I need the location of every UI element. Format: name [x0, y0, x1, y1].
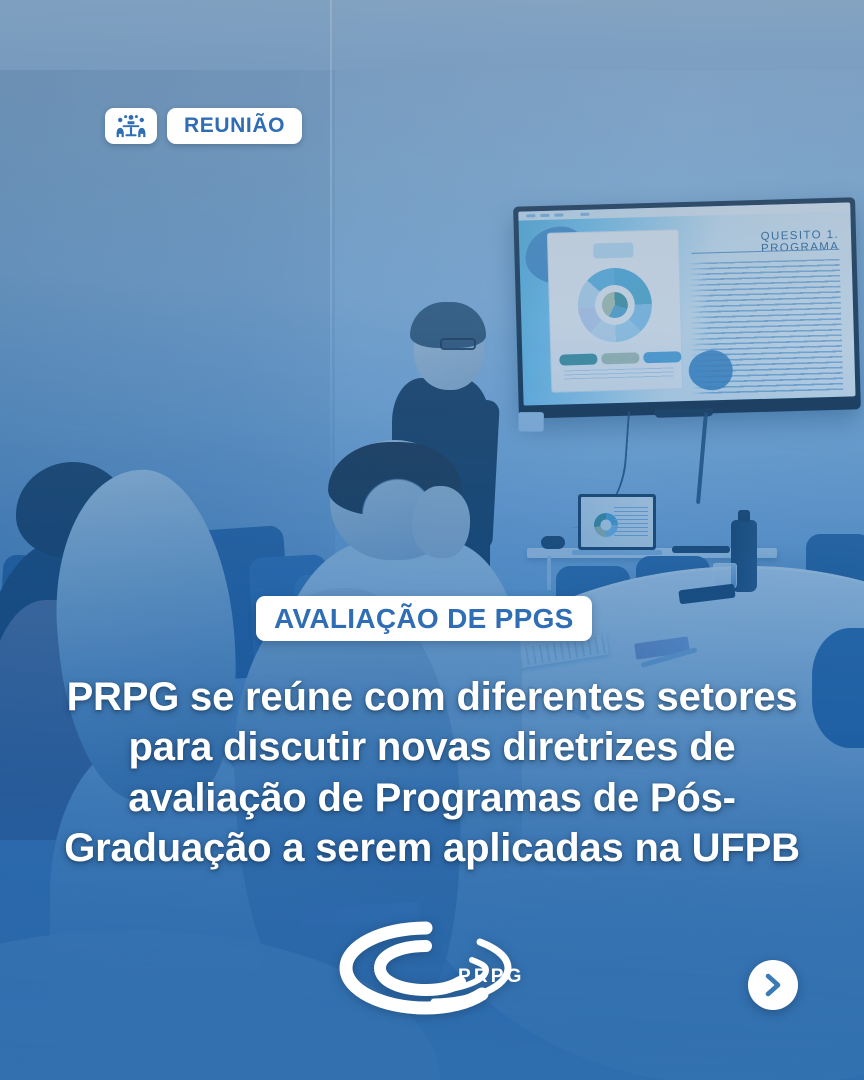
page-title: PRPG se reúne com diferentes setores par… [52, 672, 812, 874]
meeting-table-people-icon [105, 108, 157, 144]
category-tag-pill[interactable]: REUNIÃO [167, 108, 302, 144]
chevron-right-icon [763, 973, 783, 997]
category-tag[interactable]: REUNIÃO [105, 108, 302, 144]
social-post-card: QUESITO 1. PROGRAMA [0, 0, 864, 1080]
status-badge-label: AVALIAÇÃO DE PPGS [274, 603, 574, 635]
status-badge: AVALIAÇÃO DE PPGS [256, 596, 592, 641]
category-tag-label: REUNIÃO [184, 114, 285, 138]
prpg-orbital-logo: PRPG [330, 916, 530, 1020]
next-slide-button[interactable] [748, 960, 798, 1010]
svg-text:PRPG: PRPG [458, 966, 525, 987]
